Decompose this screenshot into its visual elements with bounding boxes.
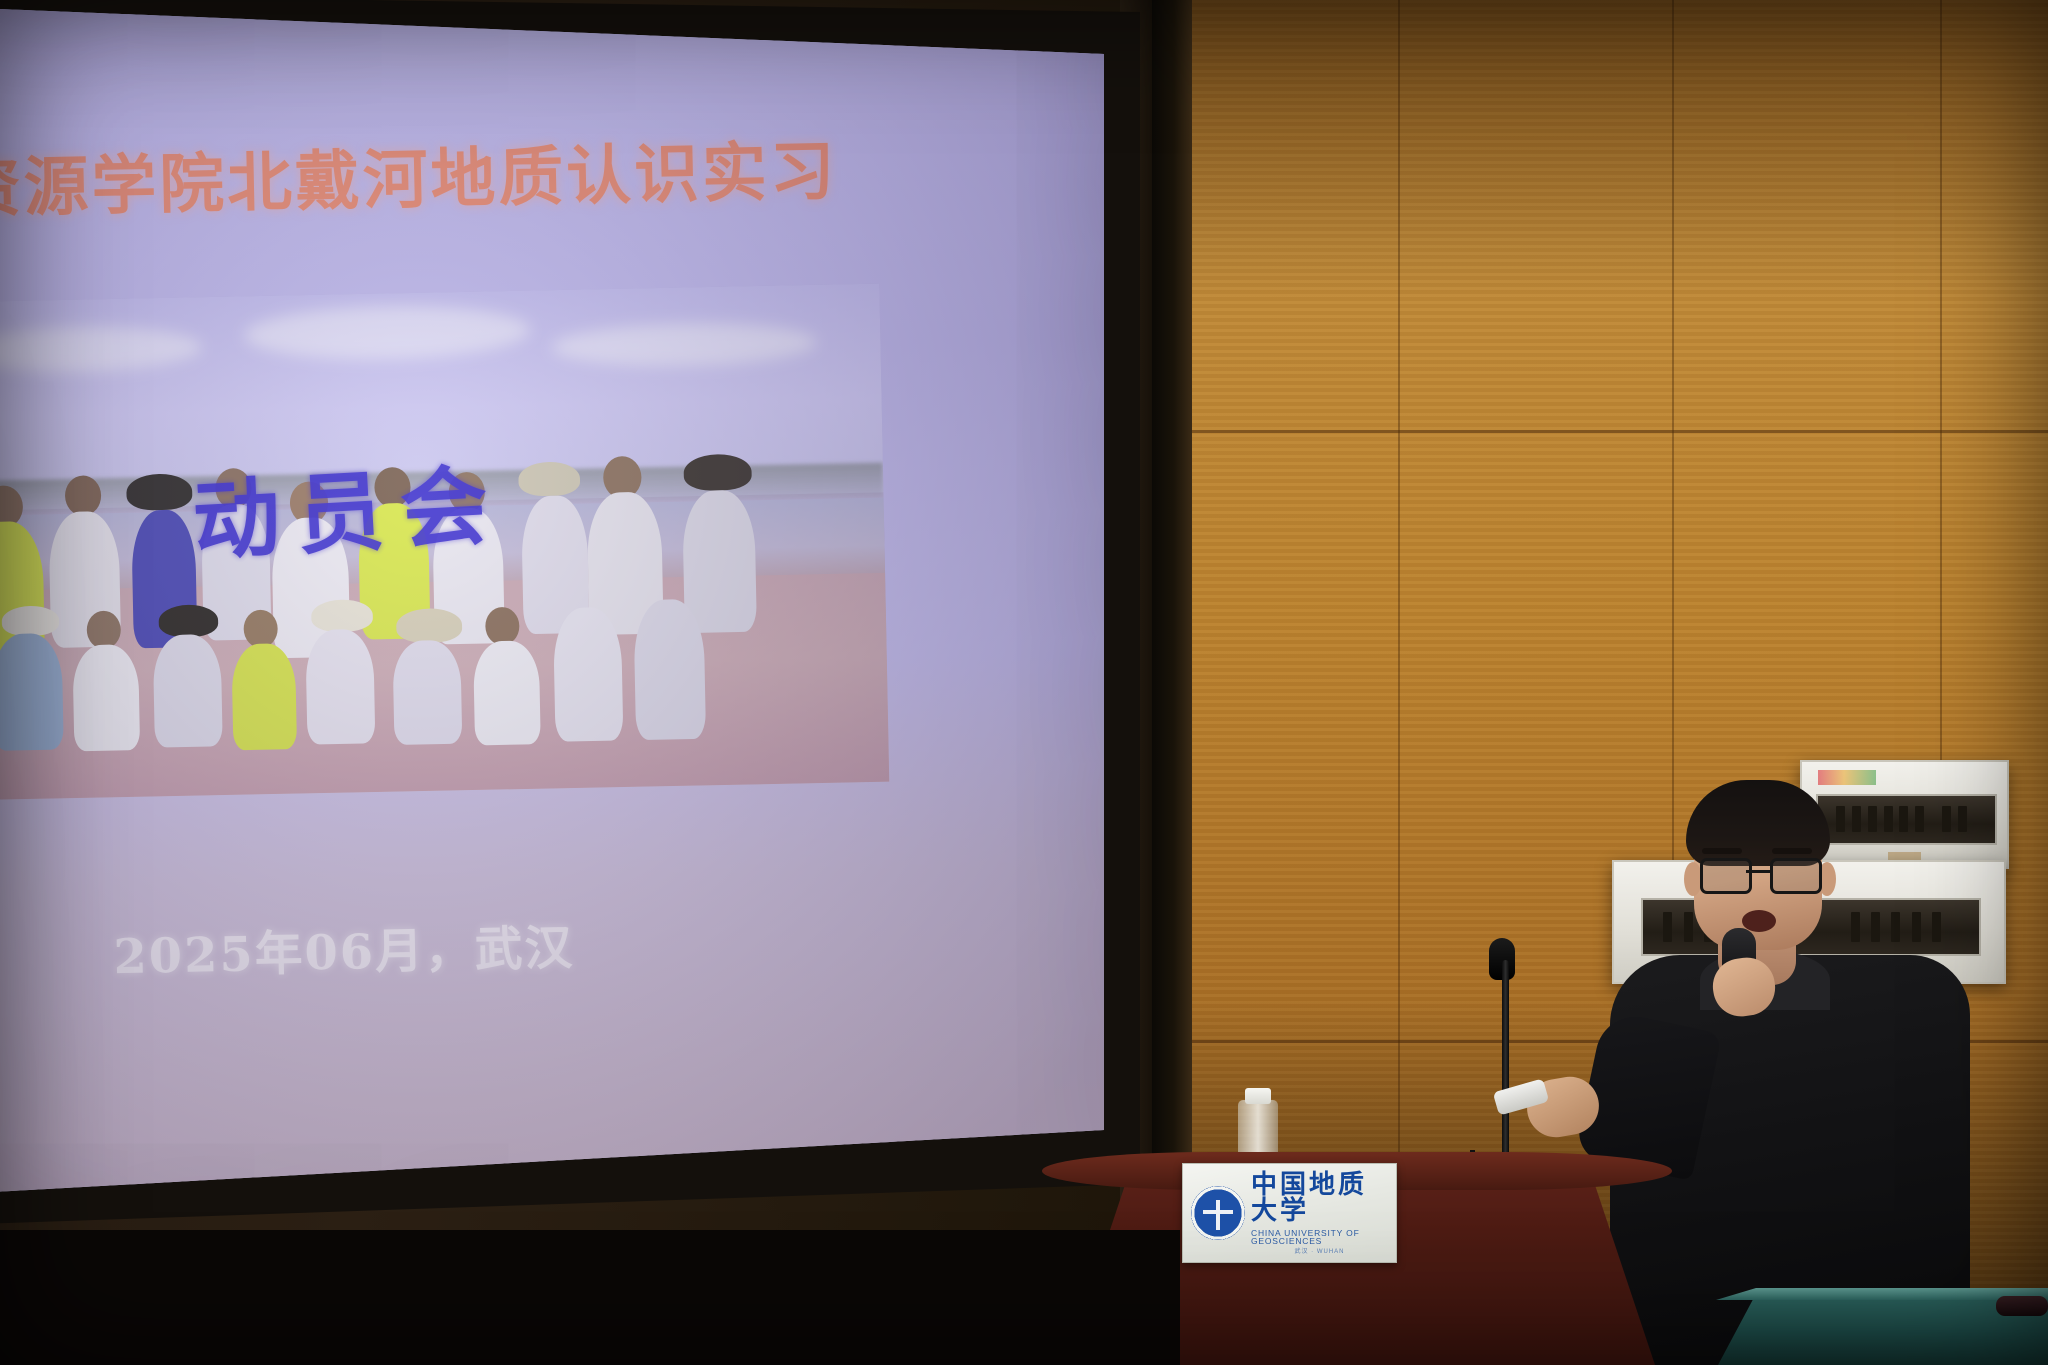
- breaker-switch[interactable]: [1884, 806, 1893, 832]
- breaker-switch[interactable]: [1852, 806, 1861, 832]
- university-seal-icon: [1191, 1186, 1245, 1240]
- person-hat: [311, 599, 373, 632]
- person-hat: [683, 454, 752, 491]
- person-body: [682, 490, 757, 633]
- nameplate-chinese: 中国地质大学: [1251, 1172, 1388, 1224]
- person-head: [65, 475, 102, 516]
- screen-frame-edge: [1152, 0, 1192, 1230]
- presenter-glasses: [1700, 858, 1816, 888]
- glasses-lens-left: [1700, 858, 1752, 894]
- university-nameplate: 中国地质大学 CHINA UNIVERSITY OF GEOSCIENCES 武…: [1182, 1163, 1397, 1263]
- breaker-switch[interactable]: [1915, 806, 1924, 832]
- person-body: [392, 640, 462, 745]
- glasses-lens-right: [1770, 858, 1822, 894]
- person-body: [0, 633, 64, 751]
- breaker-switch[interactable]: [1891, 912, 1900, 942]
- person-body: [633, 599, 706, 740]
- nameplate-text: 中国地质大学 CHINA UNIVERSITY OF GEOSCIENCES 武…: [1251, 1172, 1388, 1255]
- person-hat: [126, 474, 192, 511]
- slide-calligraphy-overlay: 动员会: [189, 434, 507, 577]
- person-hat: [158, 605, 218, 638]
- person-body: [473, 640, 541, 745]
- breaker-switch[interactable]: [1851, 912, 1860, 942]
- panel-breaker-slot: [1816, 794, 1996, 845]
- breaker-switch[interactable]: [1871, 912, 1880, 942]
- person-hat: [2, 606, 60, 637]
- breaker-switch[interactable]: [1942, 806, 1951, 832]
- person-head: [243, 610, 278, 649]
- breaker-switch[interactable]: [1899, 806, 1908, 832]
- breaker-switch[interactable]: [1663, 912, 1672, 942]
- breaker-switch[interactable]: [1932, 912, 1941, 942]
- electrical-panel-upper[interactable]: [1800, 760, 2009, 869]
- water-bottle-cap: [1245, 1088, 1271, 1104]
- wall-shading-top: [1163, 0, 2048, 300]
- person-body: [553, 607, 624, 742]
- lecture-hall-photo: 25资源学院北戴河地质认识实习: [0, 0, 2048, 1365]
- person-body: [305, 629, 375, 745]
- person-head: [485, 607, 520, 646]
- breaker-switch[interactable]: [1836, 806, 1845, 832]
- breaker-switch[interactable]: [1868, 806, 1877, 832]
- nameplate-city: 武汉 · WUHAN: [1251, 1249, 1388, 1255]
- slide-group-photo: 动员会: [0, 284, 889, 802]
- person-body: [231, 643, 297, 750]
- breaker-switch[interactable]: [1958, 806, 1967, 832]
- slide-title: 25资源学院北戴河地质认识实习: [0, 118, 814, 231]
- person-hat: [518, 462, 580, 497]
- breaker-switch[interactable]: [1912, 912, 1921, 942]
- slide-date-line: 2025年06月，武汉: [113, 909, 575, 987]
- person-body: [153, 634, 223, 748]
- wood-seam-horizontal-upper: [1163, 430, 2048, 433]
- dark-floor-area: [0, 1230, 1180, 1365]
- nameplate-english: CHINA UNIVERSITY OF GEOSCIENCES: [1251, 1229, 1388, 1246]
- panel-sticker: [1818, 770, 1875, 785]
- person-hat: [396, 608, 462, 643]
- glasses-bridge: [1746, 870, 1770, 873]
- person-head: [86, 611, 121, 650]
- person-body: [72, 644, 140, 751]
- breaker-switch[interactable]: [1684, 912, 1693, 942]
- presenter-eyebrow-right: [1772, 848, 1812, 854]
- presenter-eyebrow-left: [1702, 848, 1742, 854]
- remote-control[interactable]: [1996, 1296, 2048, 1316]
- projection-screen[interactable]: 25资源学院北戴河地质认识实习: [0, 8, 1104, 1193]
